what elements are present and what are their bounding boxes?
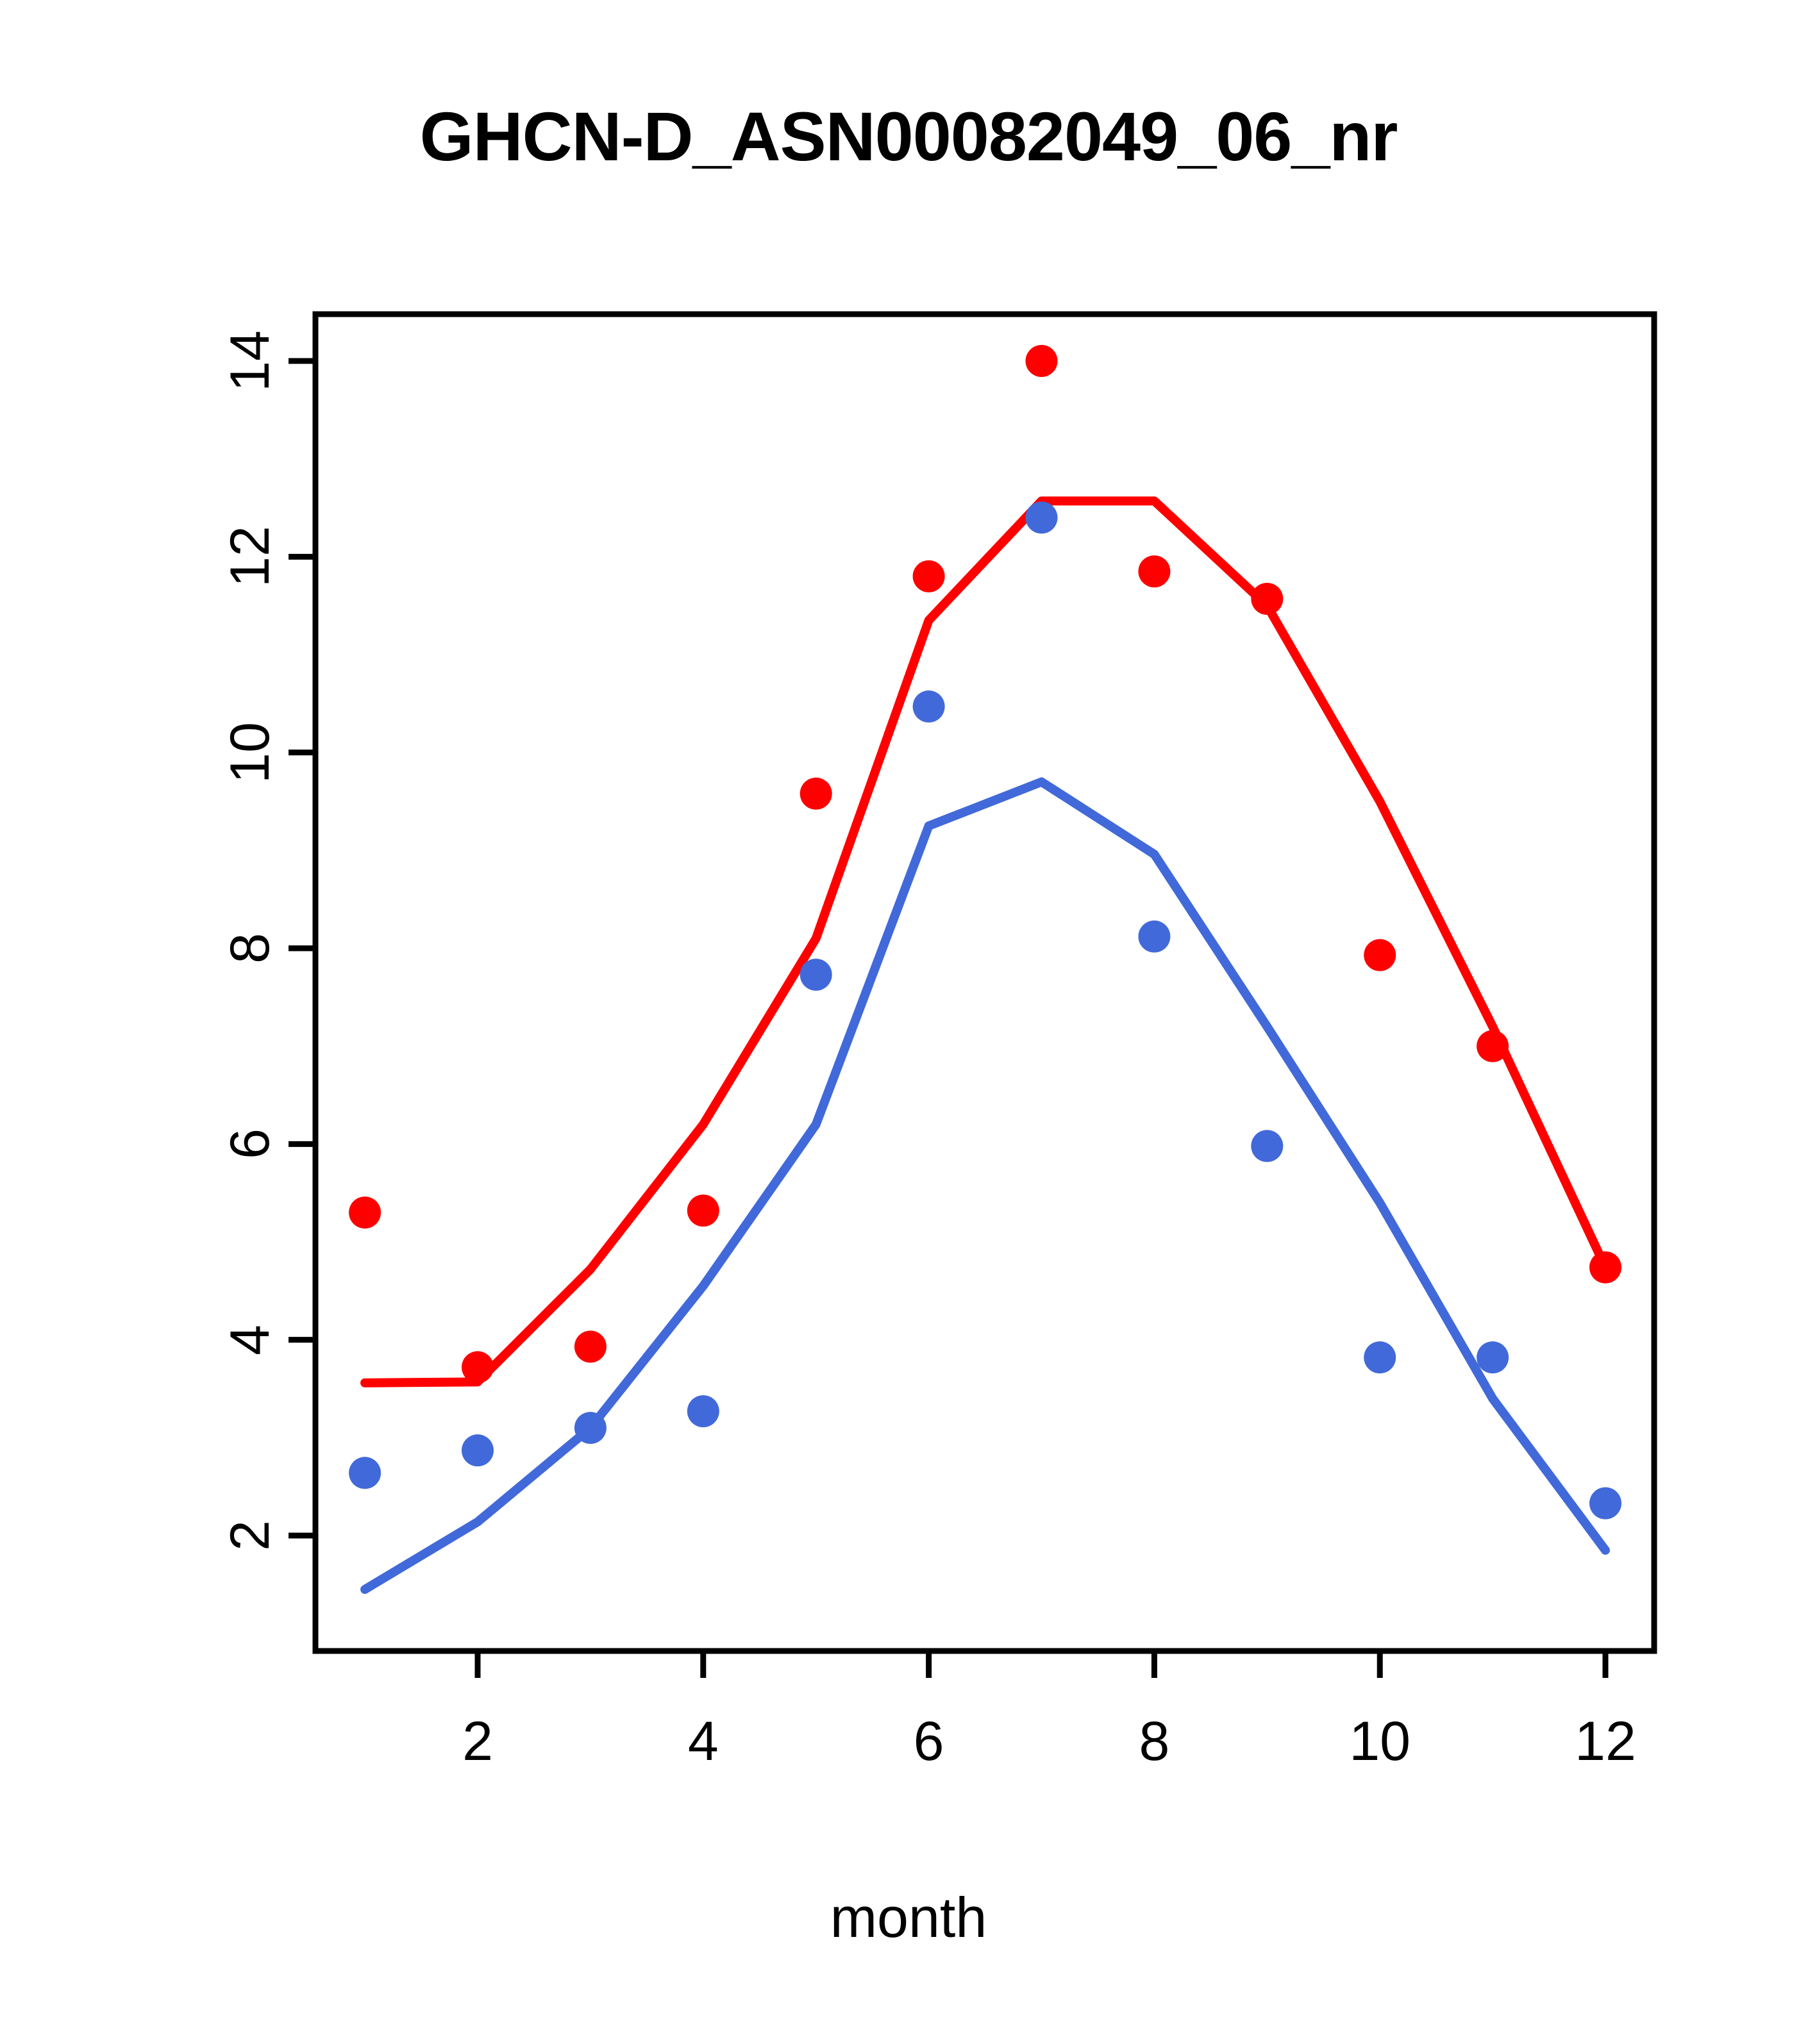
data-point — [574, 1330, 607, 1362]
data-point — [1138, 555, 1170, 587]
data-point — [800, 778, 832, 810]
data-point — [1138, 921, 1170, 953]
data-point — [1477, 1030, 1509, 1062]
data-point — [1364, 1341, 1396, 1373]
data-point — [1589, 1252, 1621, 1284]
x-tick-label: 2 — [401, 1710, 555, 1773]
x-tick-label: 10 — [1303, 1710, 1457, 1773]
x-tick-label: 8 — [1077, 1710, 1231, 1773]
data-point — [1026, 501, 1058, 533]
data-point — [1251, 1130, 1283, 1162]
series-line-red-line — [365, 501, 1605, 1383]
data-point — [462, 1351, 494, 1383]
x-tick-label: 4 — [626, 1710, 780, 1773]
x-tick-label: 12 — [1528, 1710, 1682, 1773]
series-line-blue-line — [365, 782, 1605, 1589]
data-point — [687, 1395, 719, 1427]
data-point — [913, 691, 945, 723]
x-axis-title: month — [0, 1885, 1817, 1950]
y-tick-label: 2 — [215, 1471, 285, 1600]
y-tick-label: 8 — [215, 884, 285, 1012]
data-point — [913, 560, 945, 592]
axis-ticks — [289, 361, 1605, 1678]
data-point — [1364, 939, 1396, 971]
data-point — [1251, 583, 1283, 615]
data-point — [1477, 1341, 1509, 1373]
chart-page: GHCN-D_ASN00082049_06_nr 2468101214 2468… — [0, 0, 1817, 2044]
y-tick-label: 10 — [215, 689, 285, 817]
data-series — [349, 345, 1621, 1589]
data-point — [462, 1434, 494, 1466]
data-point — [687, 1194, 719, 1227]
data-point — [349, 1457, 381, 1489]
x-tick-label: 6 — [852, 1710, 1006, 1773]
plot-border — [315, 314, 1654, 1651]
y-tick-label: 4 — [215, 1276, 285, 1404]
data-point — [1026, 345, 1058, 377]
y-tick-label: 6 — [215, 1080, 285, 1208]
y-tick-label: 12 — [215, 492, 285, 621]
y-tick-label: 14 — [215, 297, 285, 425]
data-point — [800, 959, 832, 991]
data-point — [1589, 1487, 1621, 1520]
data-point — [349, 1196, 381, 1228]
data-point — [574, 1412, 607, 1444]
plot-frame — [315, 314, 1654, 1651]
